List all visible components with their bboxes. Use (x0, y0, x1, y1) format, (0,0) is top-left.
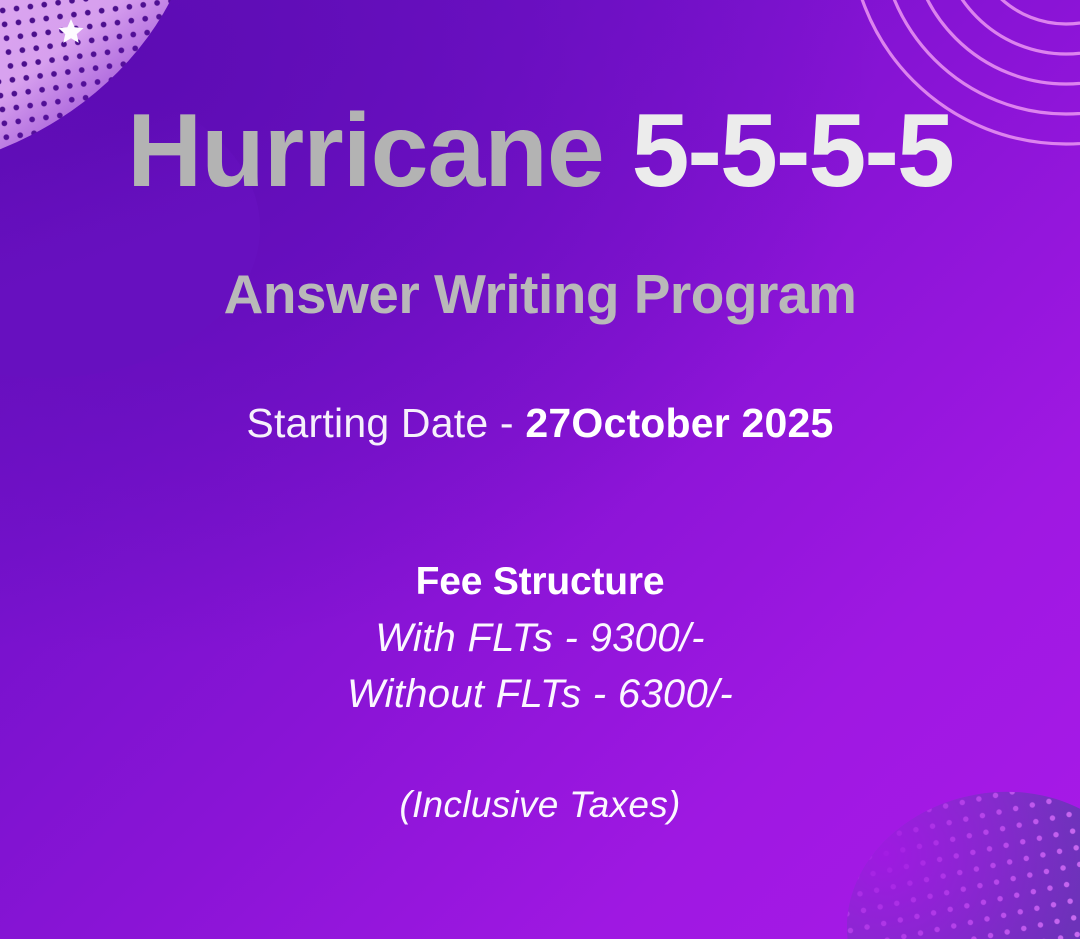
fee-without-flts: Without FLTs - 6300/- (0, 672, 1080, 717)
promo-poster: Hurricane 5-5-5-5 Answer Writing Program… (0, 0, 1080, 939)
title-code: 5-5-5-5 (632, 93, 953, 209)
poster-content: Hurricane 5-5-5-5 Answer Writing Program… (0, 0, 1080, 939)
title-word: Hurricane (127, 93, 604, 209)
fee-with-flts: With FLTs - 9300/- (0, 616, 1080, 661)
fee-structure-heading: Fee Structure (0, 560, 1080, 604)
program-subtitle: Answer Writing Program (0, 262, 1080, 326)
page-title: Hurricane 5-5-5-5 (0, 98, 1080, 204)
inclusive-taxes-note: (Inclusive Taxes) (0, 784, 1080, 826)
starting-date-line: Starting Date - 27October 2025 (0, 400, 1080, 447)
starting-date-value: 27October 2025 (525, 400, 833, 446)
starting-date-label: Starting Date - (246, 400, 525, 446)
